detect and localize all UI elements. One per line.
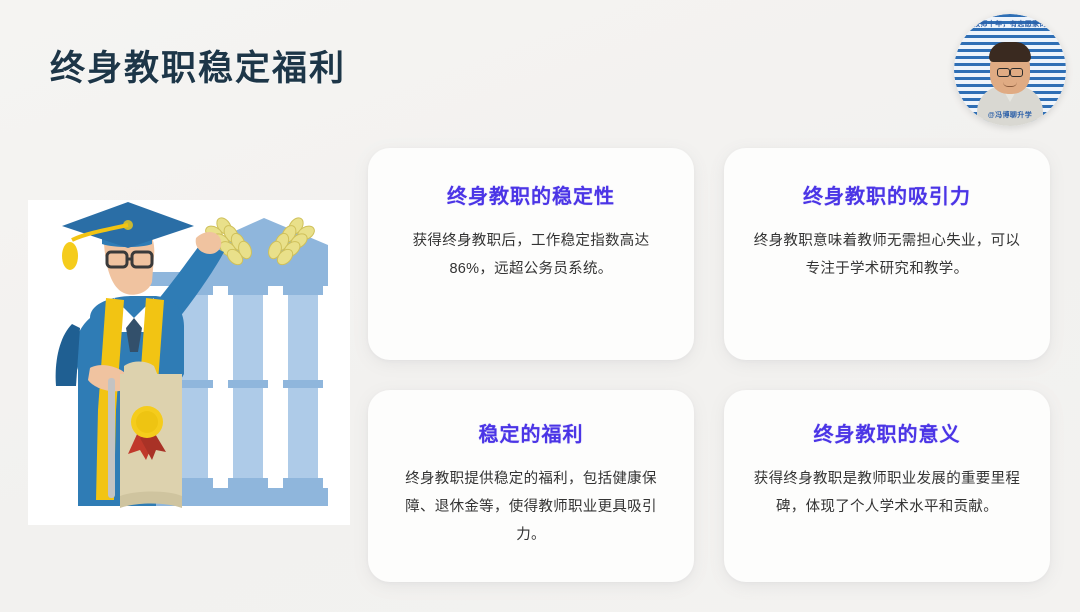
card-title: 稳定的福利 (368, 418, 694, 447)
avatar-glasses-right-icon (1010, 68, 1023, 77)
card-title: 终身教职的吸引力 (724, 180, 1050, 209)
avatar-caption-top: 苦过教师十年，有志愿家的快乐 (954, 19, 1066, 29)
graduate-illustration-svg (28, 200, 350, 525)
card-body: 获得终身教职后，工作稳定指数高达86%，远超公务员系统。 (392, 227, 670, 283)
slide-canvas: 终身教职稳定福利 苦过教师十年，有志愿家的快乐 @冯博聊升学 (0, 0, 1080, 612)
avatar-mouth (1003, 82, 1017, 87)
card-title: 终身教职的意义 (724, 418, 1050, 447)
avatar-badge[interactable]: 苦过教师十年，有志愿家的快乐 @冯博聊升学 (954, 14, 1066, 126)
avatar-hair (989, 42, 1031, 62)
graduate-illustration (28, 200, 350, 525)
card-title: 终身教职的稳定性 (368, 180, 694, 209)
card-body: 终身教职提供稳定的福利，包括健康保障、退休金等，使得教师职业更具吸引力。 (392, 465, 670, 549)
info-card[interactable]: 终身教职的意义 获得终身教职是教师职业发展的重要里程碑，体现了个人学术水平和贡献… (724, 390, 1050, 582)
avatar-caption-bottom: @冯博聊升学 (954, 110, 1066, 120)
page-title: 终身教职稳定福利 (50, 40, 346, 91)
avatar-glasses-left-icon (997, 68, 1010, 77)
card-body: 获得终身教职是教师职业发展的重要里程碑，体现了个人学术水平和贡献。 (748, 465, 1026, 521)
info-card[interactable]: 终身教职的吸引力 终身教职意味着教师无需担心失业，可以专注于学术研究和教学。 (724, 148, 1050, 360)
info-card[interactable]: 终身教职的稳定性 获得终身教职后，工作稳定指数高达86%，远超公务员系统。 (368, 148, 694, 360)
card-body: 终身教职意味着教师无需担心失业，可以专注于学术研究和教学。 (748, 227, 1026, 283)
info-card[interactable]: 稳定的福利 终身教职提供稳定的福利，包括健康保障、退休金等，使得教师职业更具吸引… (368, 390, 694, 582)
